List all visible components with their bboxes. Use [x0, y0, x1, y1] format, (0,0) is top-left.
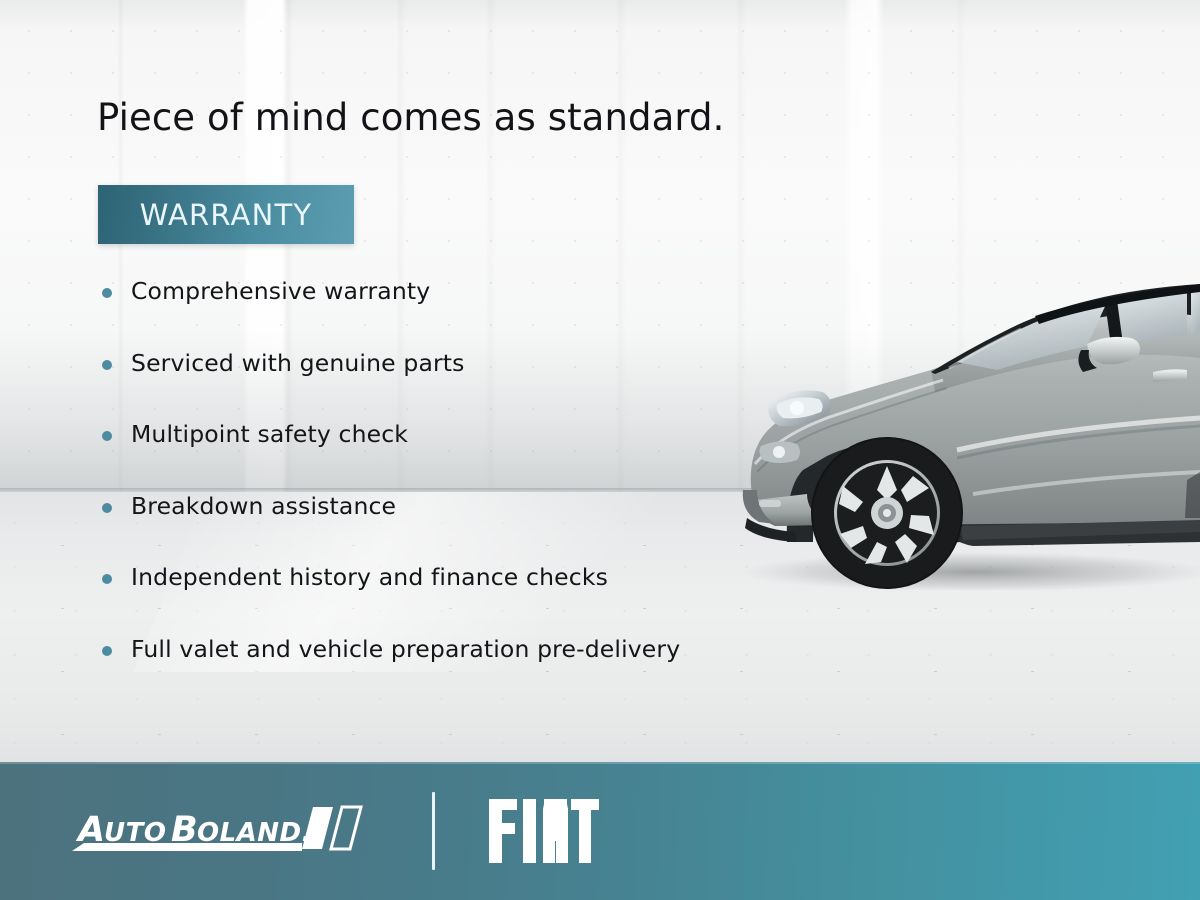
bullet-dot-icon	[102, 288, 112, 298]
bullet-dot-icon	[102, 574, 112, 584]
bullet-dot-icon	[102, 646, 112, 656]
auto-boland-logo: AUTO BOLAND. A UTO B OLAND.	[70, 791, 410, 871]
list-item: Comprehensive warranty	[98, 276, 858, 348]
list-item-label: Independent history and finance checks	[131, 562, 608, 592]
fiat-logo: FIAT	[487, 797, 599, 865]
list-item-label: Breakdown assistance	[131, 491, 396, 521]
list-item-label: Serviced with genuine parts	[131, 348, 465, 378]
list-item-label: Full valet and vehicle preparation pre-d…	[131, 634, 680, 664]
footer-bar: AUTO BOLAND. A UTO B OLAND.	[0, 762, 1200, 900]
bullet-dot-icon	[102, 503, 112, 513]
page-title: Piece of mind comes as standard.	[97, 96, 724, 139]
benefits-list: Comprehensive warranty Serviced with gen…	[98, 276, 858, 705]
warranty-badge: WARRANTY	[98, 185, 354, 244]
list-item: Independent history and finance checks	[98, 562, 858, 634]
slide-root: Silver Fiat 500X crossover, front three-…	[0, 0, 1200, 900]
warranty-badge-label: WARRANTY	[98, 198, 354, 232]
bullet-dot-icon	[102, 360, 112, 370]
list-item: Serviced with genuine parts	[98, 348, 858, 420]
list-item: Full valet and vehicle preparation pre-d…	[98, 634, 858, 706]
bullet-dot-icon	[102, 431, 112, 441]
list-item-label: Comprehensive warranty	[131, 276, 430, 306]
list-item-label: Multipoint safety check	[131, 419, 408, 449]
list-item: Breakdown assistance	[98, 491, 858, 563]
footer-divider	[432, 792, 435, 870]
list-item: Multipoint safety check	[98, 419, 858, 491]
footer-logo-group: AUTO BOLAND. A UTO B OLAND.	[70, 762, 599, 900]
